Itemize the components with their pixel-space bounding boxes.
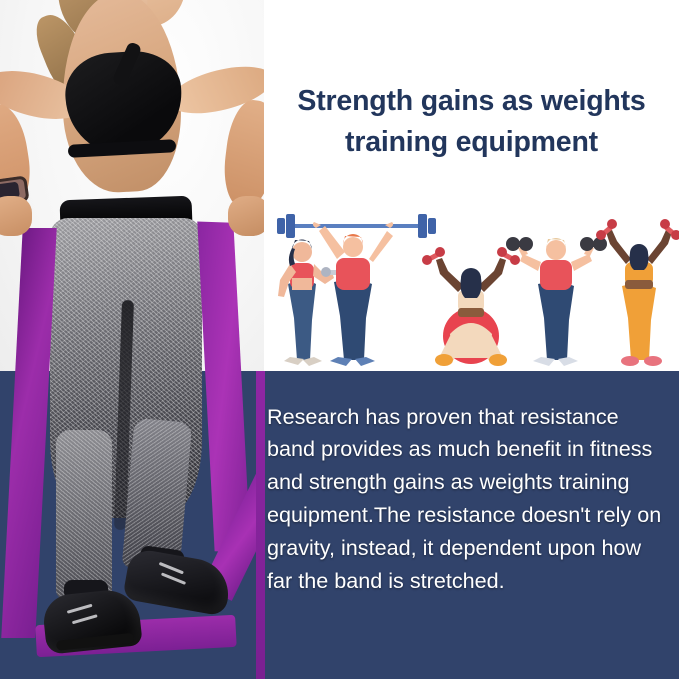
exercise-figures-illustration [264, 208, 679, 371]
page-title: Strength gains as weights training equip… [264, 81, 679, 162]
model-left-shin [56, 430, 112, 600]
product-marketing-poster: Strength gains as weights training equip… [0, 0, 679, 679]
product-photo [0, 0, 264, 679]
description-panel: Research has proven that resistance band… [256, 371, 679, 679]
panel-purple-accent-edge [256, 371, 265, 679]
model-right-hand-grip [228, 196, 264, 236]
model-left-hand-grip [0, 196, 32, 236]
description-text: Research has proven that resistance band… [267, 401, 667, 598]
model-left-shoe [41, 587, 143, 655]
content-column: Strength gains as weights training equip… [264, 0, 679, 679]
